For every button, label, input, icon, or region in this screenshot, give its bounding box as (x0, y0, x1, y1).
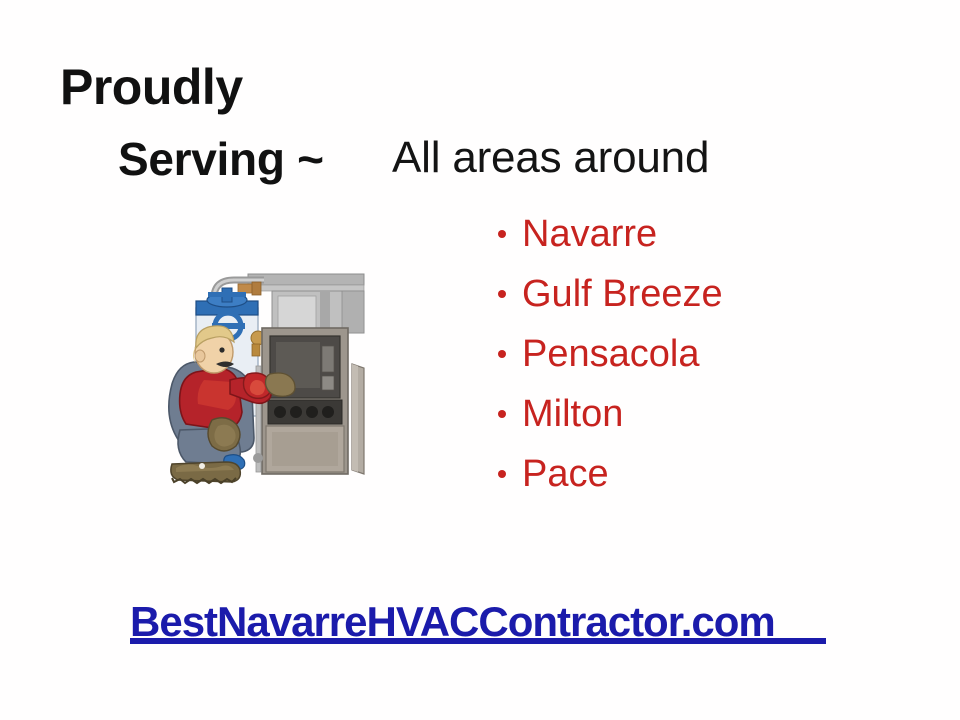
service-area-label: Milton (522, 393, 623, 435)
furnace-cabinet (253, 328, 364, 474)
bullet-dot-icon (498, 350, 506, 358)
service-area-label: Navarre (522, 213, 657, 255)
website-url-underline (130, 638, 826, 644)
hvac-technician-illustration (152, 268, 382, 493)
service-area-label: Pace (522, 453, 609, 495)
headline-line-serving: Serving ~ (118, 132, 324, 186)
list-item: Pensacola (496, 324, 826, 384)
list-item: Navarre (496, 204, 826, 264)
list-item: Gulf Breeze (496, 264, 826, 324)
list-item: Milton (496, 384, 826, 444)
service-areas-list: Navarre Gulf Breeze Pensacola Milton Pac… (496, 204, 826, 504)
bullet-dot-icon (498, 410, 506, 418)
service-area-label: Gulf Breeze (522, 273, 723, 315)
bullet-dot-icon (498, 470, 506, 478)
bullet-dot-icon (498, 230, 506, 238)
list-item: Pace (496, 444, 826, 504)
headline-line-proudly: Proudly (60, 58, 243, 116)
bullet-dot-icon (498, 290, 506, 298)
service-area-label: Pensacola (522, 333, 699, 375)
headline-line-all-areas-around: All areas around (392, 133, 709, 183)
slide-canvas: Proudly Serving ~ All areas around (0, 0, 960, 720)
